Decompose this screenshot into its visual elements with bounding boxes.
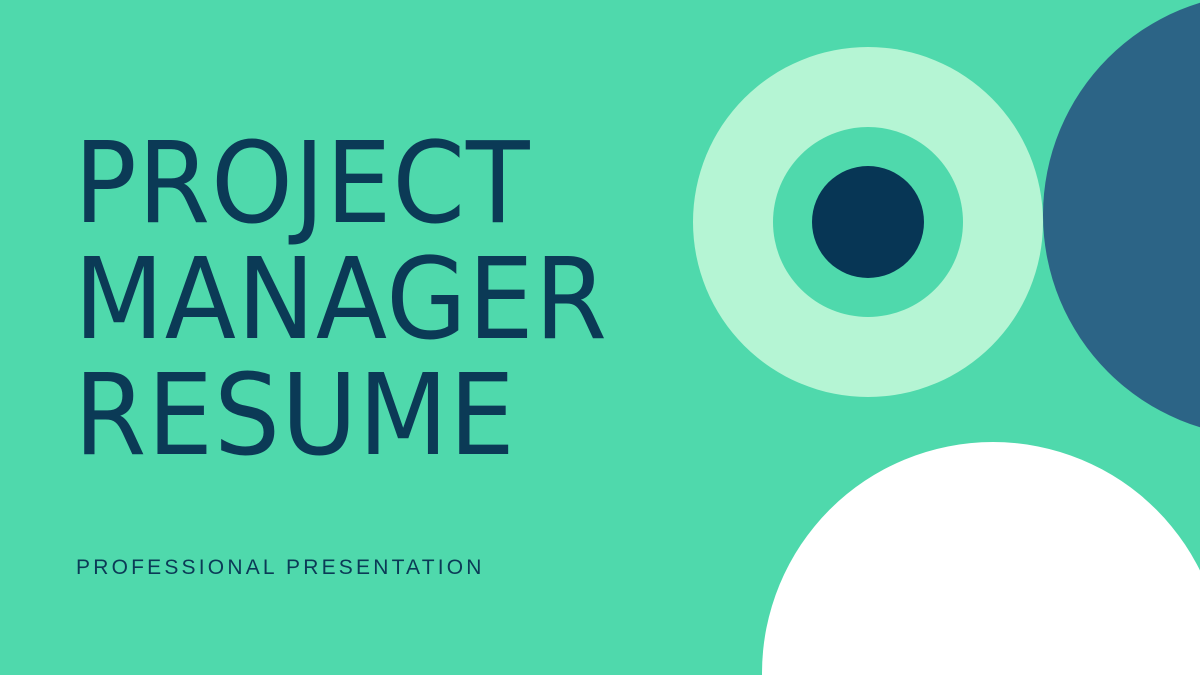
page-title: PROJECT MANAGER RESUME <box>74 126 608 474</box>
subtitle: PROFESSIONAL PRESENTATION <box>76 556 485 580</box>
page-title-line-2: MANAGER <box>74 242 608 358</box>
white-circle-icon <box>762 442 1200 675</box>
steel-blue-circle-icon <box>1043 0 1200 437</box>
concentric-circle-core-dot-icon <box>812 166 924 278</box>
page-title-line-1: PROJECT <box>74 126 608 242</box>
title-block: PROJECT MANAGER RESUME <box>74 126 648 474</box>
page-title-line-3: RESUME <box>74 358 608 474</box>
title-slide: PROJECT MANAGER RESUME PROFESSIONAL PRES… <box>0 0 1200 675</box>
